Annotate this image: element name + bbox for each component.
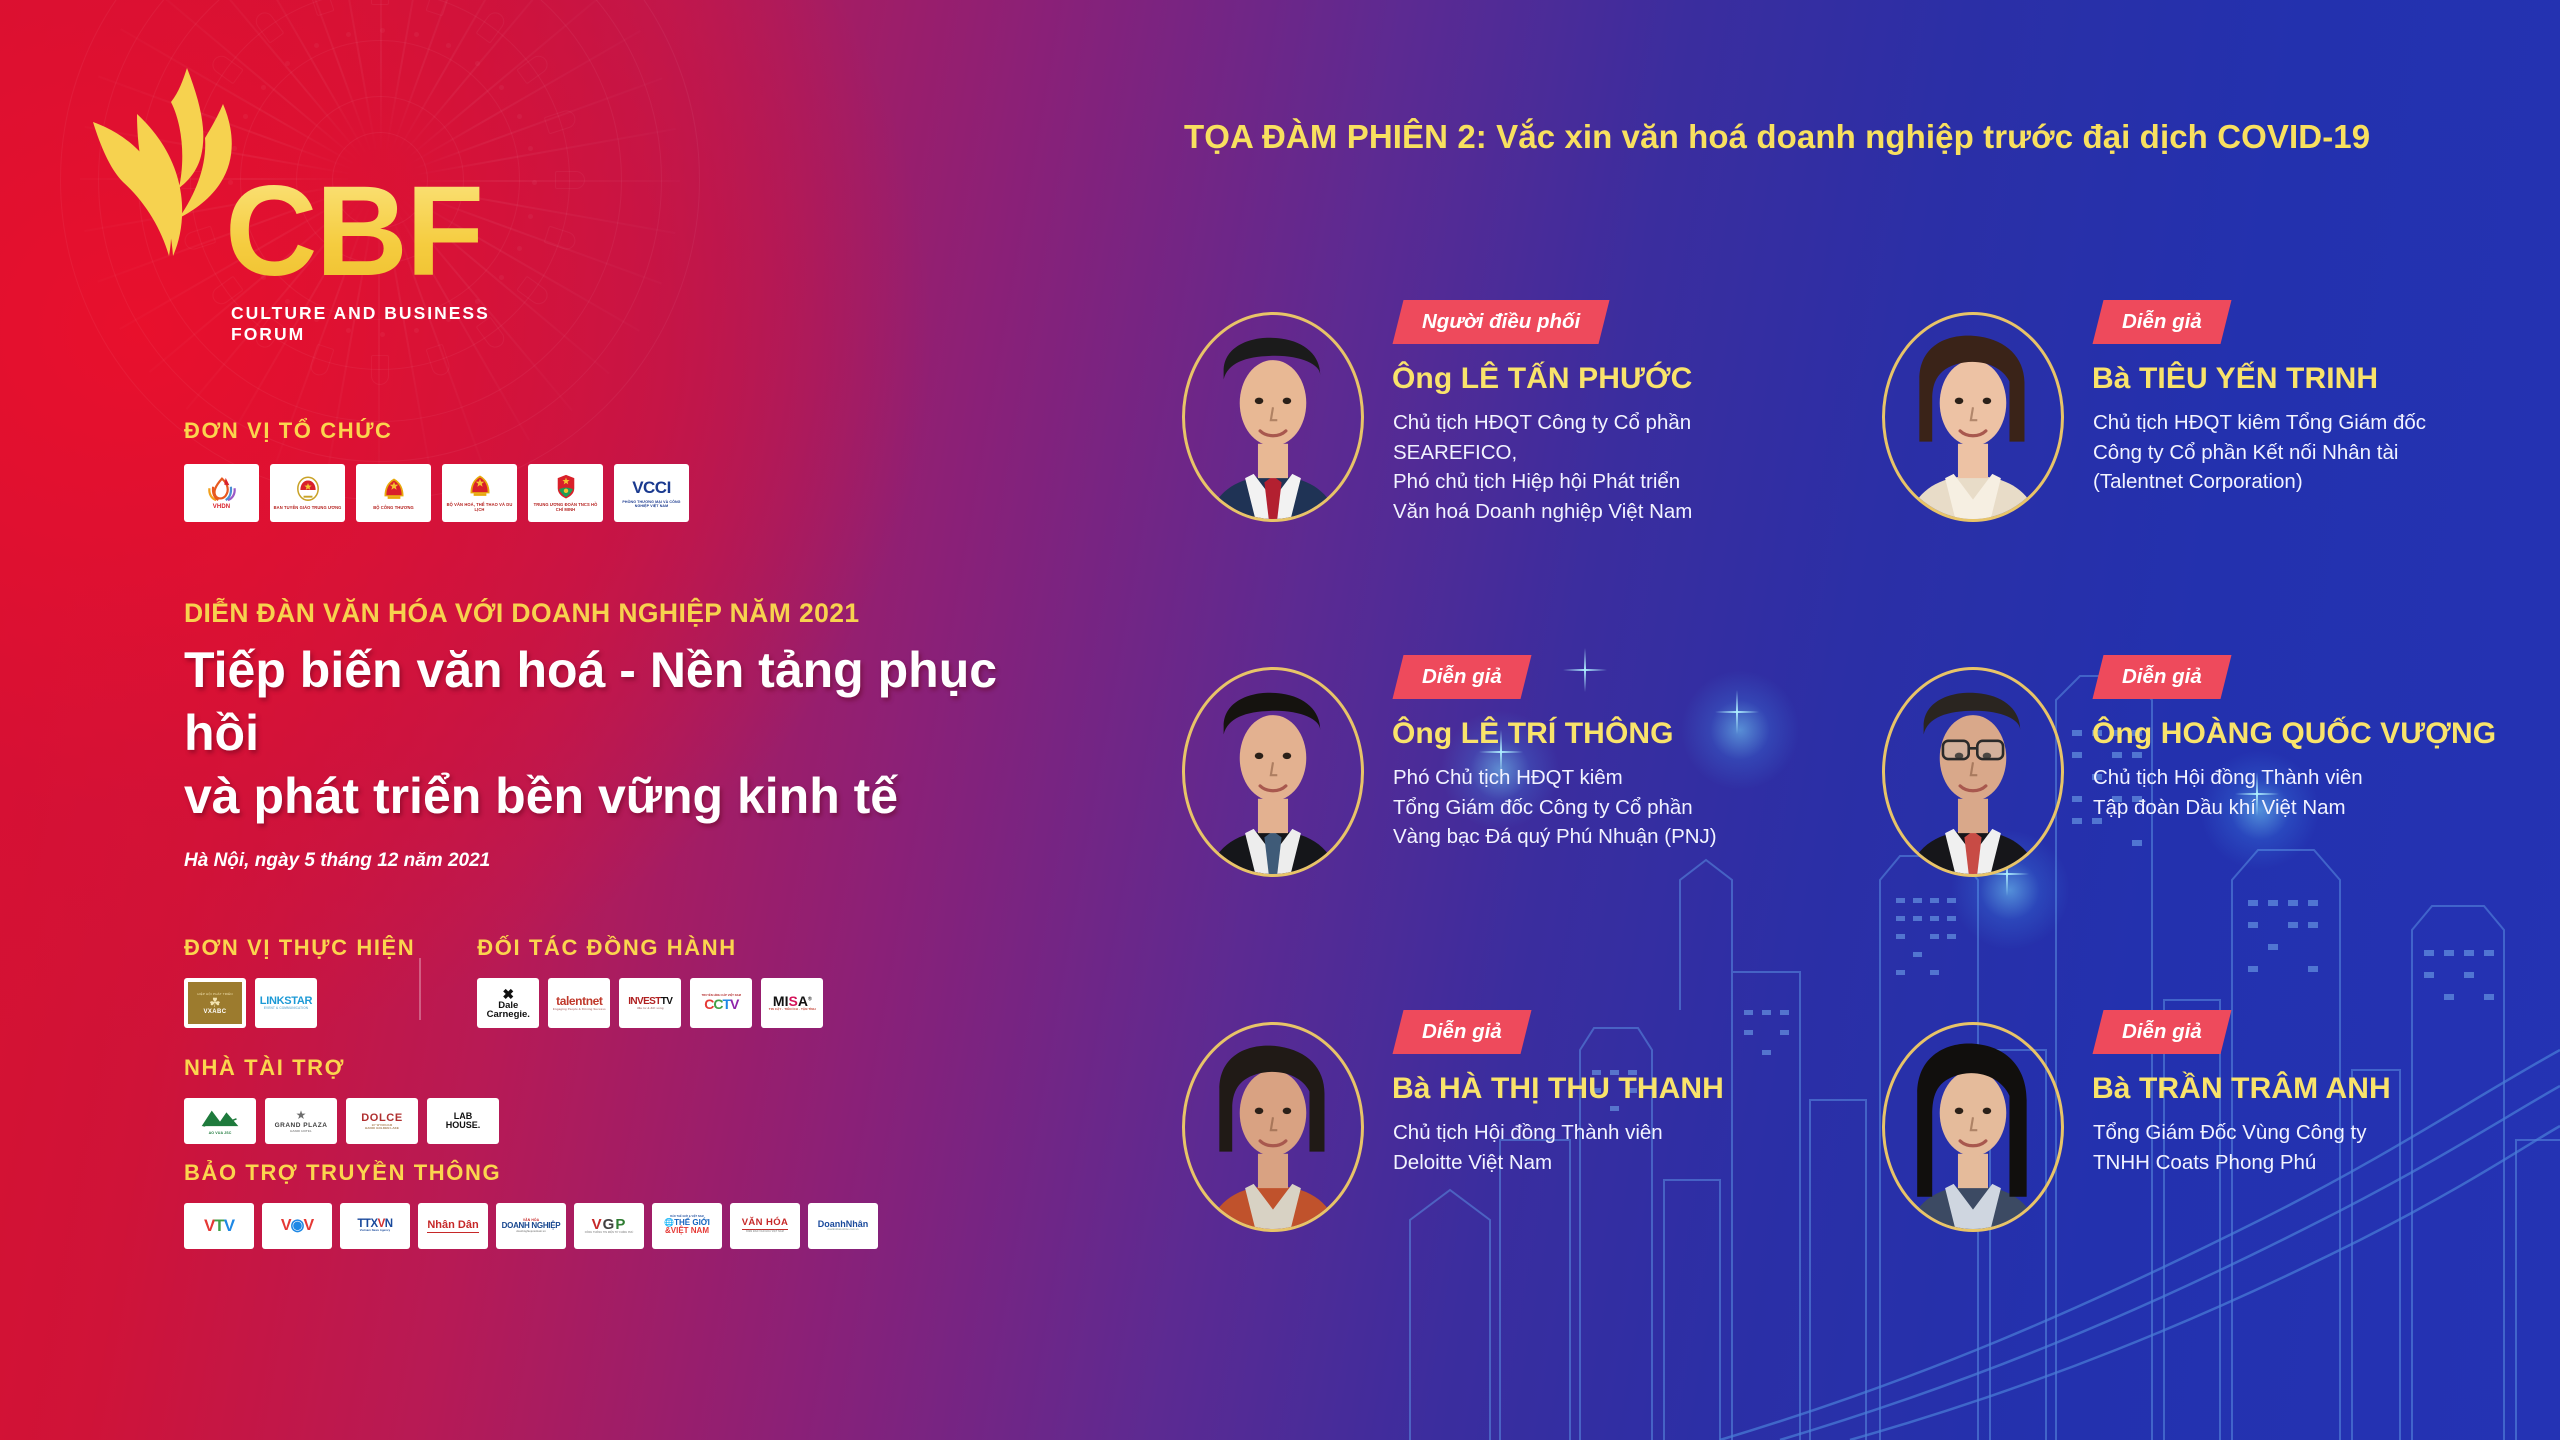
left-panel: CBF CULTURE AND BUSINESS FORUM ĐƠN VỊ TỔ… [0,0,1060,1440]
sponsor-logo-3: DOLCEBY WYNDHAMHANOI GOLDEN LAKE [346,1098,418,1144]
event-poster: CBF CULTURE AND BUSINESS FORUM ĐƠN VỊ TỔ… [0,0,2560,1440]
speaker-role: Phó Chủ tịch HĐQT kiêm Tổng Giám đốc Côn… [1393,763,1863,852]
organizers-logo-list: VHDNBAN TUYÊN GIÁO TRUNG ƯƠNGBỘ CÔNG THƯ… [184,464,689,522]
media-logo-2: V◉V [262,1203,332,1249]
media-logo-7: BÁO THẾ GIỚI & VIỆT NAM🌐THẾ GIỚI&VIỆT NA… [652,1203,722,1249]
implementer-heading: ĐƠN VỊ THỰC HIỆN [184,935,415,961]
headline-title: Tiếp biến văn hoá - Nền tảng phục hồi và… [184,639,1014,828]
speaker-name: Bà TIÊU YẾN TRINH [2092,362,2560,396]
session-title: TỌA ĐÀM PHIÊN 2: Vắc xin văn hoá doanh n… [1184,112,2374,162]
media-logo-6: VGPCỔNG THÔNG TIN ĐIỆN TỬ CHÍNH PHỦ [574,1203,644,1249]
speaker-card: Diễn giảÔng HOÀNG QUỐC VƯỢNGChủ tịch Hội… [1860,655,2560,985]
headline-line-1: Tiếp biến văn hoá - Nền tảng phục hồi [184,639,1014,765]
avatar [1182,1022,1364,1232]
right-panel: TỌA ĐÀM PHIÊN 2: Vắc xin văn hoá doanh n… [1160,0,2560,1440]
logo-wordmark: CBF [225,168,482,296]
partner-logo-2: talentnetEngaging People & Driving Succe… [548,978,610,1028]
organizer-logo-1: VHDN [184,464,259,522]
role-badge: Diễn giả [2093,1010,2232,1054]
speaker-role: Chủ tịch Hội đồng Thành viên Deloitte Vi… [1393,1118,1863,1177]
event-date: Hà Nội, ngày 5 tháng 12 năm 2021 [184,850,1014,872]
role-badge: Diễn giả [2093,655,2232,699]
partner-logo-5: MISA®TIN CẬY · TIÊN ÍCH · TẬN TÌNH [761,978,823,1028]
speaker-card: Diễn giảBà TRẦN TRÂM ANHTổng Giám Đốc Vù… [1860,1010,2560,1340]
logo-subtitle: CULTURE AND BUSINESS FORUM [231,303,505,345]
media-logo-5: VĂN HÓADOANH NGHIỆPdoanhnghiepvietnam.vn [496,1203,566,1249]
role-badge-label: Người điều phối [1422,310,1580,334]
speaker-name: Bà HÀ THỊ THU THANH [1392,1072,1862,1106]
speaker-row: Người điều phốiÔng LÊ TẤN PHƯỚCChủ tịch … [1160,300,2560,655]
speaker-name: Ông LÊ TRÍ THÔNG [1392,717,1862,751]
speaker-role: Chủ tịch HĐQT Công ty Cổ phần SEAREFICO,… [1393,408,1863,526]
role-badge-label: Diễn giả [2122,310,2202,334]
role-badge-label: Diễn giả [2122,1020,2202,1044]
organizers-heading: ĐƠN VỊ TỔ CHỨC [184,418,689,444]
implementer-logo-1: HIỆP HỘI PHÁT TRIỂN☘VXABC [184,978,246,1028]
media-logo-1: VTV [184,1203,254,1249]
speaker-card: Diễn giảÔng LÊ TRÍ THÔNGPhó Chủ tịch HĐQ… [1160,655,1860,985]
role-badge: Diễn giả [1393,1010,1532,1054]
partner-logo-1: ✖DaleCarnegie. [477,978,539,1028]
implementer-logo-2: LINKSTAREVENT & COMMUNICATION [255,978,317,1028]
role-badge: Diễn giả [1393,655,1532,699]
sponsor-logo-2: ★GRAND PLAZAHANOI HOTEL [265,1098,337,1144]
organizers-section: ĐƠN VỊ TỔ CHỨC VHDNBAN TUYÊN GIÁO TRUNG … [184,418,689,522]
headline-block: DIỄN ĐÀN VĂN HÓA VỚI DOANH NGHIỆP NĂM 20… [184,598,1014,872]
media-section: BẢO TRỢ TRUYỀN THÔNG VTVV◉VTTXVNVietnam … [184,1160,878,1249]
headline-line-2: và phát triển bền vững kinh tế [184,765,1014,828]
partner-logo-4: TRUYỀN HÌNH CÁP VIỆT NAMCCTV [690,978,752,1028]
speaker-row: Diễn giảBà HÀ THỊ THU THANHChủ tịch Hội … [1160,1010,2560,1365]
speaker-row: Diễn giảÔng LÊ TRÍ THÔNGPhó Chủ tịch HĐQ… [1160,655,2560,1010]
partners-section: ĐƠN VỊ THỰC HIỆN HIỆP HỘI PHÁT TRIỂN☘VXA… [184,935,823,1028]
organizer-logo-5: TRUNG ƯƠNG ĐOÀN TNCS HỒ CHÍ MINH [528,464,603,522]
speaker-role: Tổng Giám Đốc Vùng Công ty TNHH Coats Ph… [2093,1118,2560,1177]
role-badge-label: Diễn giả [1422,1020,1502,1044]
speaker-name: Ông HOÀNG QUỐC VƯỢNG [2092,717,2560,751]
role-badge-label: Diễn giả [2122,665,2202,689]
speaker-name: Bà TRẦN TRÂM ANH [2092,1072,2560,1106]
organizer-logo-6: VCCIPHÒNG THƯƠNG MẠI VÀ CÔNG NGHIỆP VIỆT… [614,464,689,522]
headline-kicker: DIỄN ĐÀN VĂN HÓA VỚI DOANH NGHIỆP NĂM 20… [184,598,1014,629]
partners-logo-list: ✖DaleCarnegie.talentnetEngaging People &… [477,978,823,1028]
sponsor-logo-1: AO VUA JSC [184,1098,256,1144]
role-badge: Người điều phối [1393,300,1610,344]
speaker-name: Ông LÊ TẤN PHƯỚC [1392,362,1862,396]
role-badge-label: Diễn giả [1422,665,1502,689]
media-logo-list: VTVV◉VTTXVNVietnam News AgencyNhân DânVĂ… [184,1203,878,1249]
media-logo-4: Nhân Dân [418,1203,488,1249]
media-logo-9: DoanhNhândoanhnhanonline.com.vn [808,1203,878,1249]
avatar [1882,667,2064,877]
cbf-logo: CBF CULTURE AND BUSINESS FORUM [75,60,505,350]
sponsors-logo-list: AO VUA JSC★GRAND PLAZAHANOI HOTELDOLCEBY… [184,1098,499,1144]
partners-heading: ĐỐI TÁC ĐỒNG HÀNH [477,935,823,961]
sponsor-logo-4: LABHOUSE. [427,1098,499,1144]
organizer-logo-3: BỘ CÔNG THƯƠNG [356,464,431,522]
organizer-logo-4: BỘ VĂN HOÁ, THỂ THAO VÀ DU LỊCH [442,464,517,522]
role-badge: Diễn giả [2093,300,2232,344]
sponsors-heading: NHÀ TÀI TRỢ [184,1055,499,1081]
avatar [1182,667,1364,877]
speaker-card: Diễn giảBà TIÊU YẾN TRINHChủ tịch HĐQT k… [1860,300,2560,630]
media-logo-3: TTXVNVietnam News Agency [340,1203,410,1249]
organizer-logo-2: BAN TUYÊN GIÁO TRUNG ƯƠNG [270,464,345,522]
speaker-role: Chủ tịch Hội đồng Thành viên Tập đoàn Dầ… [2093,763,2560,822]
partner-logo-3: INVESTTVđầu tư & đời sống [619,978,681,1028]
speaker-role: Chủ tịch HĐQT kiêm Tổng Giám đốc Công ty… [2093,408,2560,497]
partner-group: ĐỐI TÁC ĐỒNG HÀNH ✖DaleCarnegie.talentne… [477,935,823,1028]
avatar [1882,1022,2064,1232]
speaker-card: Diễn giảBà HÀ THỊ THU THANHChủ tịch Hội … [1160,1010,1860,1340]
avatar [1882,312,2064,522]
sponsors-section: NHÀ TÀI TRỢ AO VUA JSC★GRAND PLAZAHANOI … [184,1055,499,1144]
avatar [1182,312,1364,522]
speaker-card: Người điều phốiÔng LÊ TẤN PHƯỚCChủ tịch … [1160,300,1860,630]
implementer-group: ĐƠN VỊ THỰC HIỆN HIỆP HỘI PHÁT TRIỂN☘VXA… [184,935,415,1028]
media-logo-8: VĂN HÓADIỄN ĐÀN VĂN HÓA VIỆT NAM [730,1203,800,1249]
media-heading: BẢO TRỢ TRUYỀN THÔNG [184,1160,878,1186]
speaker-grid: Người điều phốiÔng LÊ TẤN PHƯỚCChủ tịch … [1160,300,2560,1365]
partners-divider [419,958,421,1020]
implementer-logo-list: HIỆP HỘI PHÁT TRIỂN☘VXABCLINKSTAREVENT &… [184,978,415,1028]
